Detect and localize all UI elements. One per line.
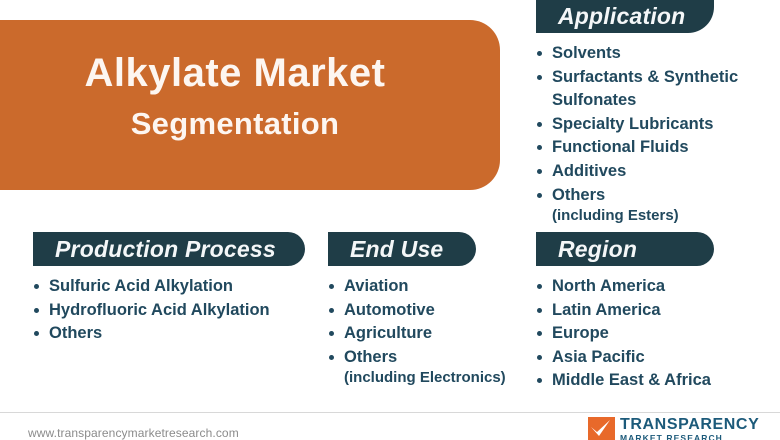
segment-title-application: Application <box>558 5 685 28</box>
list-item: Hydrofluoric Acid Alkylation <box>33 299 333 323</box>
list-item: Asia Pacific <box>536 346 780 370</box>
list-item: Aviation <box>328 275 528 299</box>
segment-header-region: Region <box>536 232 714 266</box>
bullet-icon <box>537 193 542 198</box>
title-panel: Alkylate Market Segmentation <box>0 20 500 190</box>
list-item: Others(including Esters) <box>536 184 780 226</box>
bullet-icon <box>537 308 542 313</box>
bullet-icon <box>329 331 334 336</box>
logo-line-transparency: TRANSPARENCY <box>620 417 759 433</box>
list-item-label: Others <box>552 184 780 208</box>
bullet-icon <box>537 75 542 80</box>
segment-region: Region North America Latin America Europ… <box>536 232 780 393</box>
list-item-label: Middle East & Africa <box>552 371 711 389</box>
bullet-icon <box>537 378 542 383</box>
segment-production-process: Production Process Sulfuric Acid Alkylat… <box>33 232 333 346</box>
segment-list-end-use: Aviation Automotive Agriculture Others(i… <box>328 266 528 388</box>
bullet-icon <box>34 308 39 313</box>
list-item-label: Europe <box>552 324 609 342</box>
list-item-label: Functional Fluids <box>552 136 780 160</box>
list-item: North America <box>536 275 780 299</box>
bullet-icon <box>34 331 39 336</box>
list-item: Surfactants & Synthetic Sulfonates <box>536 66 780 113</box>
logo-line-market-research: MARKET RESEARCH <box>620 434 759 440</box>
list-item-label: Solvents <box>552 42 780 66</box>
segment-title-production-process: Production Process <box>55 238 276 261</box>
list-item-label: Agriculture <box>344 324 432 342</box>
infographic-canvas: Alkylate Market Segmentation Application… <box>0 0 780 440</box>
segment-header-production-process: Production Process <box>33 232 305 266</box>
list-item: Europe <box>536 322 780 346</box>
list-item-label: Asia Pacific <box>552 348 645 366</box>
list-item-label: Sulfuric Acid Alkylation <box>49 277 233 295</box>
list-item: Functional Fluids <box>536 136 780 160</box>
bullet-icon <box>537 284 542 289</box>
segment-list-region: North America Latin America Europe Asia … <box>536 266 780 393</box>
list-item: Specialty Lubricants <box>536 113 780 137</box>
bullet-icon <box>537 355 542 360</box>
segment-end-use: End Use Aviation Automotive Agriculture … <box>328 232 528 388</box>
list-item: Others(including Electronics) <box>328 346 528 388</box>
segment-header-application: Application <box>536 0 714 33</box>
segment-list-production-process: Sulfuric Acid Alkylation Hydrofluoric Ac… <box>33 266 333 346</box>
list-item: Additives <box>536 160 780 184</box>
segment-title-region: Region <box>558 238 637 261</box>
list-item-label: Additives <box>552 160 780 184</box>
list-item-label: North America <box>552 277 665 295</box>
checkmark-swoosh-icon <box>588 417 615 440</box>
bullet-icon <box>537 51 542 56</box>
bullet-icon <box>329 355 334 360</box>
logo-wordmark: TRANSPARENCY MARKET RESEARCH <box>620 417 759 440</box>
footer-website-url[interactable]: www.transparencymarketresearch.com <box>28 426 239 440</box>
list-item: Solvents <box>536 42 780 66</box>
list-item-label: Latin America <box>552 301 661 319</box>
list-item-note: (including Esters) <box>552 207 780 226</box>
transparency-market-research-logo[interactable]: TRANSPARENCY MARKET RESEARCH <box>588 417 759 440</box>
list-item: Others <box>33 322 333 346</box>
list-item: Sulfuric Acid Alkylation <box>33 275 333 299</box>
bullet-icon <box>329 284 334 289</box>
list-item: Latin America <box>536 299 780 323</box>
bullet-icon <box>34 284 39 289</box>
segment-list-application: Solvents Surfactants & Synthetic Sulfona… <box>536 33 780 226</box>
list-item-label: Others <box>344 348 397 366</box>
footer-divider <box>0 412 780 413</box>
list-item-label: Surfactants & Synthetic Sulfonates <box>552 66 780 113</box>
page-subtitle: Segmentation <box>0 108 470 141</box>
list-item-label: Aviation <box>344 277 408 295</box>
segment-header-end-use: End Use <box>328 232 476 266</box>
bullet-icon <box>537 331 542 336</box>
bullet-icon <box>537 169 542 174</box>
list-item: Middle East & Africa <box>536 369 780 393</box>
segment-application: Application Solvents Surfactants & Synth… <box>536 0 780 226</box>
bullet-icon <box>537 145 542 150</box>
bullet-icon <box>537 122 542 127</box>
list-item-label: Specialty Lubricants <box>552 113 780 137</box>
list-item: Automotive <box>328 299 528 323</box>
list-item-label: Others <box>49 324 102 342</box>
list-item-label: Hydrofluoric Acid Alkylation <box>49 301 270 319</box>
list-item-label: Automotive <box>344 301 435 319</box>
list-item: Agriculture <box>328 322 528 346</box>
bullet-icon <box>329 308 334 313</box>
list-item-note: (including Electronics) <box>344 369 528 388</box>
page-title: Alkylate Market <box>0 52 470 94</box>
segment-title-end-use: End Use <box>350 238 443 261</box>
